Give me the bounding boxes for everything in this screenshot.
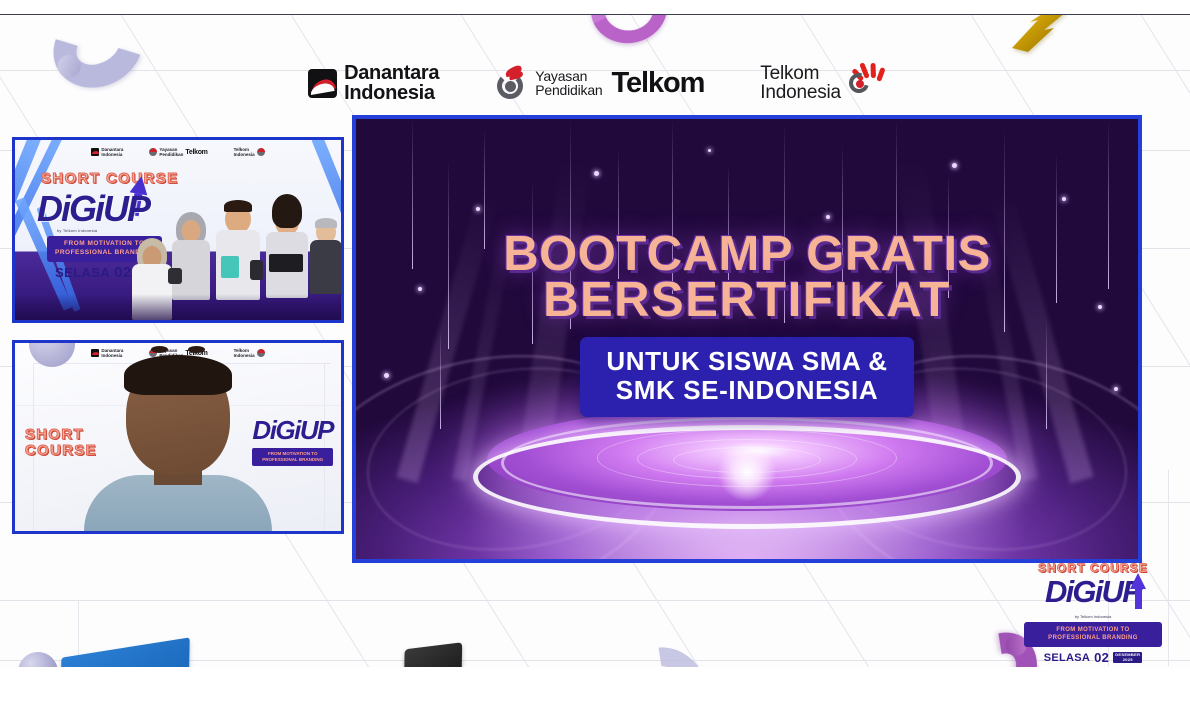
poster-partner-logos: DanantaraIndonesia YayasanPendidikan Tel… bbox=[15, 147, 341, 157]
telkom-wordmark: Telkom Indonesia bbox=[760, 64, 841, 103]
main-presentation-slide[interactable]: BOOTCAMP GRATIS BERSERTIFIKAT UNTUK SISW… bbox=[352, 115, 1142, 563]
ypt-line2: Pendidikan bbox=[535, 83, 602, 97]
poster-logo-telkom: TelkomIndonesia bbox=[234, 147, 265, 157]
slide-headline: BOOTCAMP GRATIS BERSERTIFIKAT bbox=[503, 231, 991, 323]
logo-telkom-indonesia: Telkom Indonesia bbox=[760, 64, 882, 103]
slide-headline-line2: BERSERTIFIKAT bbox=[503, 277, 991, 323]
webcam-speaker-thumbnail[interactable]: DanantaraIndonesia YayasanPendidikan Tel… bbox=[12, 340, 344, 534]
slide-subtitle-line2: SMK SE-INDONESIA bbox=[606, 376, 887, 405]
webcam-short-course-label: SHORT COURSE bbox=[25, 427, 97, 459]
webcam-logo-telkom: TelkomIndonesia bbox=[234, 348, 265, 358]
logo-yayasan-pendidikan-telkom: Yayasan Pendidikan Telkom bbox=[495, 67, 704, 100]
lockup-tagline: FROM MOTIVATION TO PROFESSIONAL BRANDING bbox=[1024, 622, 1162, 647]
poster-slide-thumbnail[interactable]: DanantaraIndonesia YayasanPendidikan Tel… bbox=[12, 137, 344, 323]
slide-headline-line1: BOOTCAMP GRATIS bbox=[503, 231, 991, 277]
danantara-line2: Indonesia bbox=[344, 83, 439, 103]
danantara-wordmark: Danantara Indonesia bbox=[344, 63, 439, 104]
danantara-line1: Danantara bbox=[344, 63, 439, 83]
telkom-line1: Telkom bbox=[760, 64, 841, 83]
webcam-digiup-wordmark: DiGiUP bbox=[252, 415, 333, 446]
top-divider-rule bbox=[0, 14, 1190, 15]
lockup-digiup-wordmark: DiGiUP bbox=[1045, 574, 1141, 609]
slide-text-content: BOOTCAMP GRATIS BERSERTIFIKAT UNTUK SISW… bbox=[356, 119, 1138, 559]
webcam-tagline: FROM MOTIVATION TO PROFESSIONAL BRANDING bbox=[252, 448, 333, 466]
corner-brand-lockup: SHORT COURSE DiGiUP by Telkom Indonesia … bbox=[1024, 561, 1162, 665]
telkom-hand-ring-icon bbox=[846, 62, 882, 96]
webcam-logo-danantara: DanantaraIndonesia bbox=[91, 348, 123, 358]
webcam-virtual-background: DanantaraIndonesia YayasanPendidikan Tel… bbox=[15, 343, 341, 531]
lockup-growth-arrow-icon bbox=[1130, 573, 1146, 589]
poster-artwork: DanantaraIndonesia YayasanPendidikan Tel… bbox=[15, 140, 341, 320]
poster-short-course-label: SHORT COURSE bbox=[41, 170, 179, 187]
logo-danantara-indonesia: Danantara Indonesia bbox=[308, 63, 439, 104]
poster-digiup-wordmark: DiGiUP bbox=[37, 188, 149, 230]
poster-logo-ypt: YayasanPendidikan Telkom bbox=[149, 147, 207, 157]
slide-subtitle-box: UNTUK SISWA SMA & SMK SE-INDONESIA bbox=[580, 337, 913, 417]
lockup-date-month-year: DESEMBER 2025 bbox=[1113, 652, 1142, 663]
ypt-wordmark-small: Yayasan Pendidikan bbox=[535, 69, 602, 98]
top-white-band bbox=[0, 0, 1190, 14]
webcam-digiup-lockup: DiGiUP FROM MOTIVATION TO PROFESSIONAL B… bbox=[252, 415, 333, 466]
slide-artwork-background: BOOTCAMP GRATIS BERSERTIFIKAT UNTUK SISW… bbox=[356, 119, 1138, 559]
ypt-telkom-wordmark: Telkom bbox=[612, 67, 705, 100]
bottom-white-band bbox=[0, 667, 1190, 703]
telkom-line2: Indonesia bbox=[760, 83, 841, 102]
ypt-line1: Yayasan bbox=[535, 69, 602, 83]
danantara-garuda-icon bbox=[308, 69, 337, 98]
lockup-date: SELASA 02 DESEMBER 2025 bbox=[1024, 650, 1162, 665]
poster-logo-danantara: DanantaraIndonesia bbox=[91, 147, 123, 157]
slide-subtitle-line1: UNTUK SISWA SMA & bbox=[606, 347, 887, 376]
lockup-digiup-logo: DiGiUP bbox=[1024, 576, 1162, 616]
poster-byline: by Telkom Indonesia bbox=[57, 228, 97, 233]
ypt-flame-icon bbox=[495, 67, 528, 100]
partner-logo-bar: Danantara Indonesia Yayasan Pendidikan T… bbox=[0, 52, 1190, 114]
